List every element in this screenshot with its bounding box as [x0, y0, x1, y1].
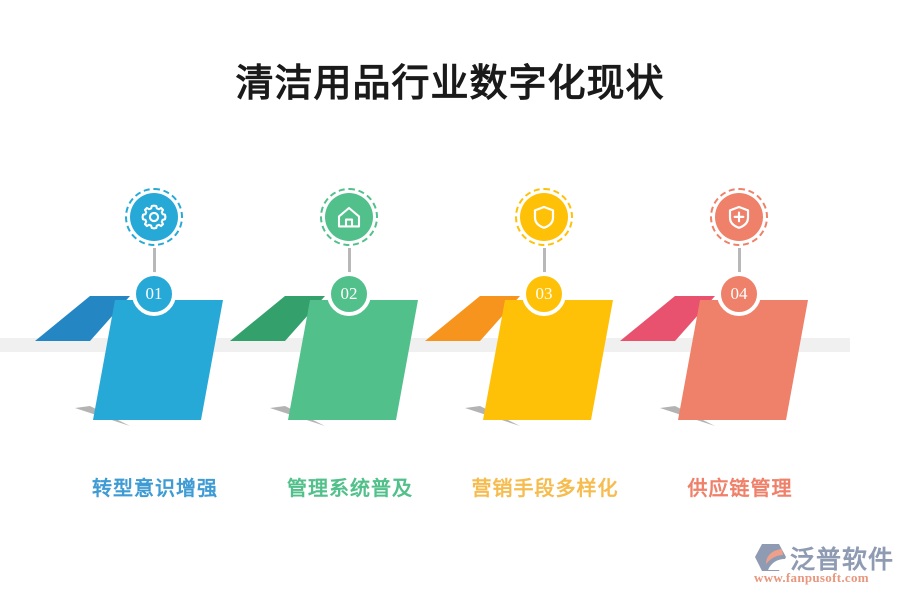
step-number-badge-2: 02 [327, 272, 371, 316]
gear-icon [130, 193, 178, 241]
icon-medallion-3[interactable] [515, 188, 573, 246]
icon-medallion-4[interactable] [710, 188, 768, 246]
brand-url: www.fanpusoft.com [754, 570, 869, 586]
step-item-4[interactable]: 04 供应链管理 [642, 0, 837, 600]
home-icon [325, 193, 373, 241]
step-number-badge-4: 04 [717, 272, 761, 316]
ribbon-body-4 [678, 300, 808, 420]
step-caption-4: 供应链管理 [625, 472, 855, 501]
ribbon-banner-4 [600, 296, 840, 426]
shield-icon [520, 193, 568, 241]
step-number-badge-1: 01 [132, 272, 176, 316]
brand-logo[interactable]: 泛普软件 www.fanpusoft.com [752, 540, 892, 588]
ribbon-body-1 [93, 300, 223, 420]
icon-medallion-1[interactable] [125, 188, 183, 246]
icon-medallion-2[interactable] [320, 188, 378, 246]
ribbon-body-2 [288, 300, 418, 420]
infographic-canvas: 清洁用品行业数字化现状 01 转型意识增强 [0, 0, 900, 600]
step-number-badge-3: 03 [522, 272, 566, 316]
ribbon-body-3 [483, 300, 613, 420]
shield-plus-icon [715, 193, 763, 241]
